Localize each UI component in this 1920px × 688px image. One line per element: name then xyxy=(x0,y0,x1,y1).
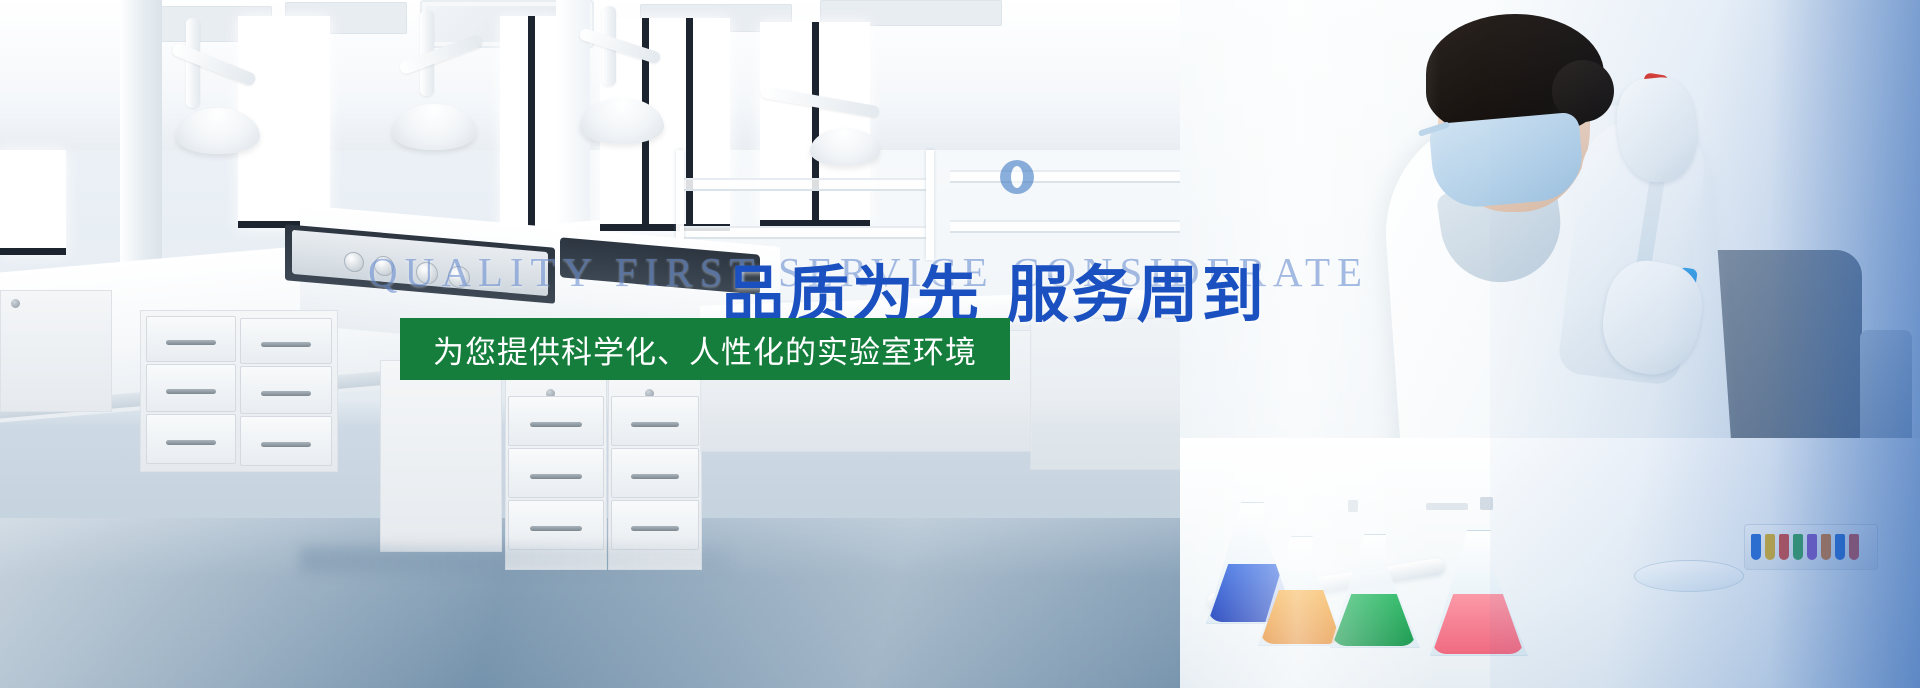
test-tube-rack xyxy=(1744,524,1878,570)
test-tube xyxy=(1807,534,1817,560)
lab-drawer[interactable] xyxy=(146,316,236,362)
lab-drawer[interactable] xyxy=(508,448,604,498)
bench-shadow xyxy=(300,546,730,572)
test-tube xyxy=(1765,534,1775,560)
test-tube xyxy=(1751,534,1761,560)
lab-drawer[interactable] xyxy=(611,396,699,446)
subtitle-banner: 为您提供科学化、人性化的实验室环境 xyxy=(400,318,1010,380)
lab-drawer[interactable] xyxy=(240,366,332,414)
lab-drawer[interactable] xyxy=(508,500,604,550)
lab-cabinet xyxy=(0,290,112,412)
test-tube xyxy=(1849,534,1859,560)
lab-drawer[interactable] xyxy=(508,396,604,446)
test-tube xyxy=(1821,534,1831,560)
scientist-photo xyxy=(1180,0,1920,688)
desk-speck xyxy=(1348,500,1358,512)
lab-window xyxy=(0,150,66,255)
lab-column xyxy=(120,0,162,300)
lab-wall-logo-icon xyxy=(1000,160,1034,194)
test-tube xyxy=(1835,534,1845,560)
test-tube xyxy=(1779,534,1789,560)
lab-drawer[interactable] xyxy=(146,414,236,464)
lab-drawer[interactable] xyxy=(146,364,236,412)
lab-window xyxy=(500,16,562,233)
cabinet-lock-icon xyxy=(11,299,20,308)
petri-dish xyxy=(1634,560,1744,592)
hero-banner: QUALITY FIRST SERVICE CONSIDERATE 品质为先 服… xyxy=(0,0,1920,688)
lab-window xyxy=(760,22,870,227)
test-tube xyxy=(1793,534,1803,560)
lab-drawer[interactable] xyxy=(240,318,332,364)
desk-speck xyxy=(1480,497,1493,510)
lab-drawer[interactable] xyxy=(611,500,699,550)
desk-speck xyxy=(1426,503,1468,510)
lab-drawer-cabinet xyxy=(380,360,502,552)
subtitle-text: 为您提供科学化、人性化的实验室环境 xyxy=(433,327,977,372)
lab-shelf xyxy=(680,178,930,191)
chair-armrest xyxy=(1860,330,1912,450)
lab-drawer[interactable] xyxy=(611,448,699,498)
lab-shelf xyxy=(680,226,930,239)
lab-drawer[interactable] xyxy=(240,416,332,466)
